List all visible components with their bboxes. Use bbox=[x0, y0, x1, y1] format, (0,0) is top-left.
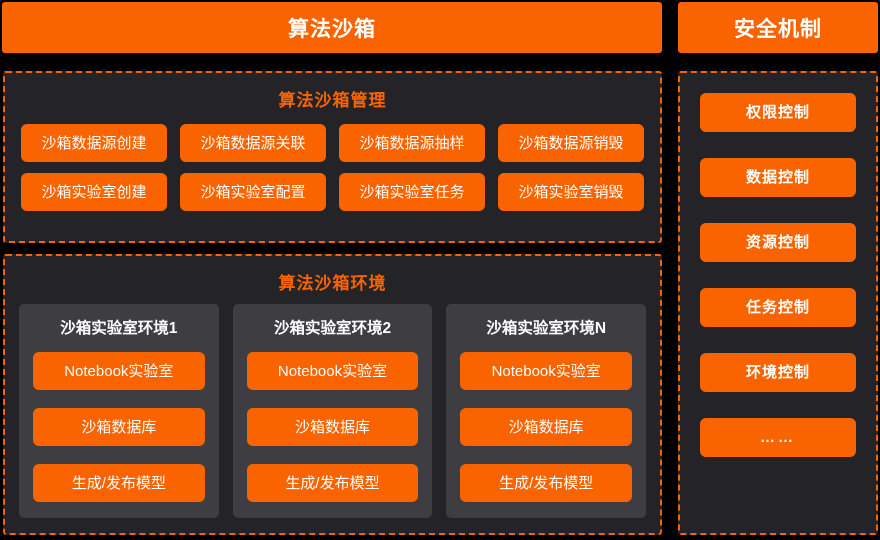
environment-card-item[interactable]: 沙箱数据库 bbox=[460, 408, 632, 446]
environment-card-item[interactable]: Notebook实验室 bbox=[460, 352, 632, 390]
diagram-root: 算法沙箱 安全机制 算法沙箱管理 沙箱数据源创建 沙箱数据源关联 沙箱数据源抽样… bbox=[0, 0, 880, 540]
environment-card-item[interactable]: 生成/发布模型 bbox=[460, 464, 632, 502]
panel-sandbox-environment: 算法沙箱环境 沙箱实验室环境1 Notebook实验室 沙箱数据库 生成/发布模… bbox=[3, 254, 662, 535]
management-item[interactable]: 沙箱实验室任务 bbox=[339, 173, 485, 211]
management-item[interactable]: 沙箱数据源销毁 bbox=[498, 124, 644, 162]
environment-card-item[interactable]: Notebook实验室 bbox=[247, 352, 419, 390]
header-algorithm-sandbox-label: 算法沙箱 bbox=[288, 13, 376, 43]
management-item[interactable]: 沙箱实验室创建 bbox=[21, 173, 167, 211]
environment-card-title: 沙箱实验室环境1 bbox=[33, 316, 205, 338]
security-item[interactable]: 资源控制 bbox=[700, 223, 856, 262]
management-item[interactable]: 沙箱数据源抽样 bbox=[339, 124, 485, 162]
environment-card-row: 沙箱实验室环境1 Notebook实验室 沙箱数据库 生成/发布模型 沙箱实验室… bbox=[5, 294, 660, 518]
management-item[interactable]: 沙箱数据源创建 bbox=[21, 124, 167, 162]
panel-security-controls: 权限控制 数据控制 资源控制 任务控制 环境控制 …… bbox=[678, 71, 878, 535]
security-item[interactable]: 任务控制 bbox=[700, 288, 856, 327]
environment-card-item[interactable]: 生成/发布模型 bbox=[247, 464, 419, 502]
environment-card: 沙箱实验室环境N Notebook实验室 沙箱数据库 生成/发布模型 bbox=[446, 304, 646, 518]
security-item-more[interactable]: …… bbox=[700, 418, 856, 457]
header-security-mechanism-label: 安全机制 bbox=[734, 13, 822, 43]
panel-sandbox-environment-title: 算法沙箱环境 bbox=[5, 269, 660, 294]
environment-card-item[interactable]: 沙箱数据库 bbox=[247, 408, 419, 446]
header-security-mechanism: 安全机制 bbox=[678, 2, 878, 53]
management-item-grid: 沙箱数据源创建 沙箱数据源关联 沙箱数据源抽样 沙箱数据源销毁 沙箱实验室创建 … bbox=[5, 111, 660, 211]
environment-card-title: 沙箱实验室环境N bbox=[460, 316, 632, 338]
header-algorithm-sandbox: 算法沙箱 bbox=[2, 2, 662, 53]
security-item[interactable]: 环境控制 bbox=[700, 353, 856, 392]
environment-card-item[interactable]: 生成/发布模型 bbox=[33, 464, 205, 502]
security-item[interactable]: 权限控制 bbox=[700, 93, 856, 132]
management-item[interactable]: 沙箱实验室配置 bbox=[180, 173, 326, 211]
security-item[interactable]: 数据控制 bbox=[700, 158, 856, 197]
panel-sandbox-management: 算法沙箱管理 沙箱数据源创建 沙箱数据源关联 沙箱数据源抽样 沙箱数据源销毁 沙… bbox=[3, 71, 662, 243]
panel-sandbox-management-title: 算法沙箱管理 bbox=[5, 86, 660, 111]
environment-card: 沙箱实验室环境1 Notebook实验室 沙箱数据库 生成/发布模型 bbox=[19, 304, 219, 518]
environment-card: 沙箱实验室环境2 Notebook实验室 沙箱数据库 生成/发布模型 bbox=[233, 304, 433, 518]
management-item[interactable]: 沙箱实验室销毁 bbox=[498, 173, 644, 211]
environment-card-item[interactable]: 沙箱数据库 bbox=[33, 408, 205, 446]
management-item[interactable]: 沙箱数据源关联 bbox=[180, 124, 326, 162]
environment-card-title: 沙箱实验室环境2 bbox=[247, 316, 419, 338]
environment-card-item[interactable]: Notebook实验室 bbox=[33, 352, 205, 390]
security-item-list: 权限控制 数据控制 资源控制 任务控制 环境控制 …… bbox=[680, 73, 876, 457]
